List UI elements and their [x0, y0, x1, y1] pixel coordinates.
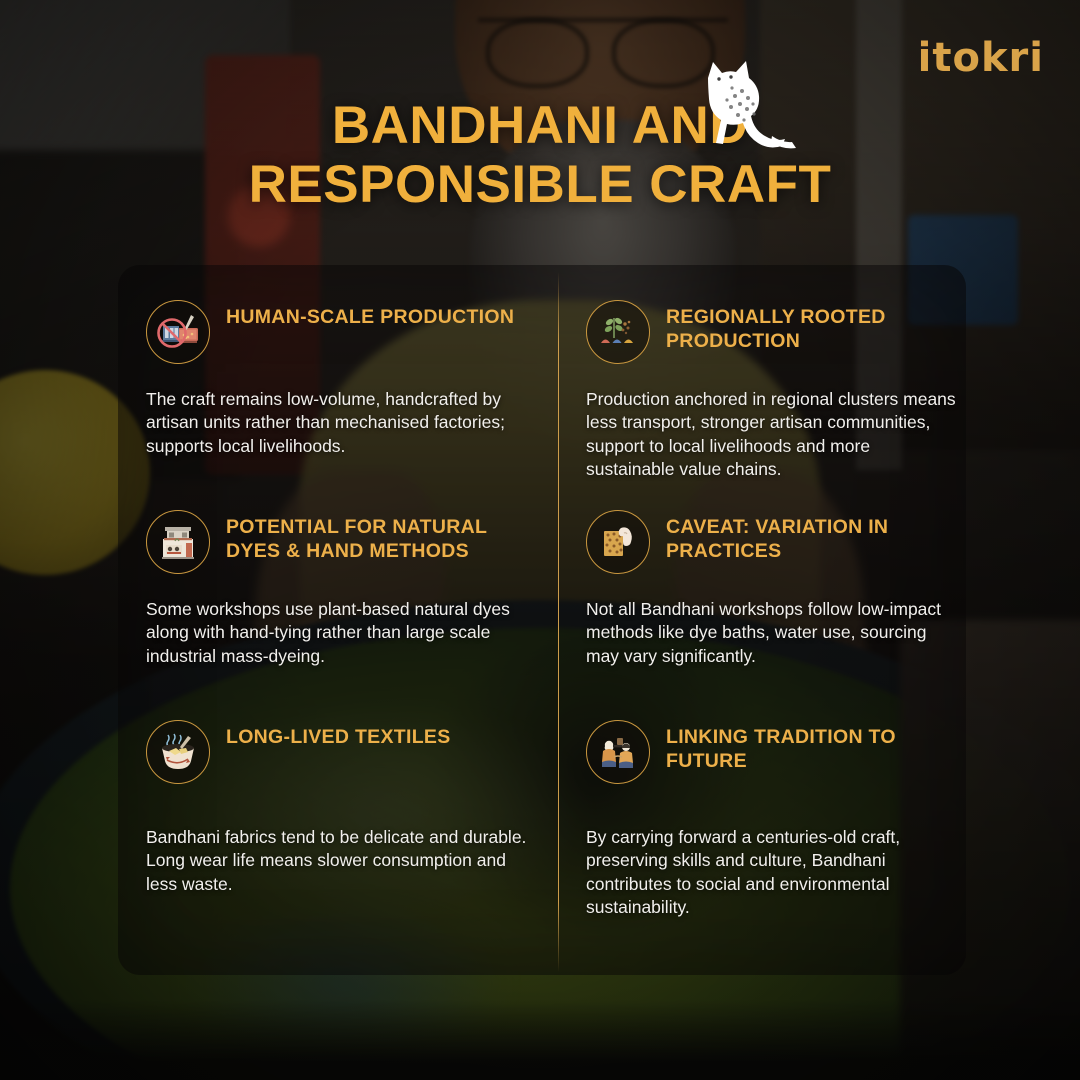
- card-human-scale-production: HUMAN-SCALE PRODUCTION The craft remains…: [118, 265, 558, 475]
- card-long-lived-textiles: LONG-LIVED TEXTILES Bandhani fabrics ten…: [118, 685, 558, 915]
- cat-icon: [686, 52, 806, 164]
- card-body: Some workshops use plant-based natural d…: [146, 598, 530, 668]
- seedling-dye-powders-icon: [586, 300, 650, 364]
- card-body: By carrying forward a centuries-old craf…: [586, 826, 956, 919]
- card-header: LINKING TRADITION TO FUTURE: [586, 720, 956, 784]
- workshop-building-icon: [146, 510, 210, 574]
- cards-grid: HUMAN-SCALE PRODUCTION The craft remains…: [118, 265, 966, 975]
- card-body: The craft remains low-volume, handcrafte…: [146, 388, 530, 458]
- card-header: LONG-LIVED TEXTILES: [146, 720, 530, 784]
- title-line-2: RESPONSIBLE CRAFT: [0, 155, 1080, 214]
- page-title: BANDHANI AND RESPONSIBLE CRAFT: [0, 96, 1080, 215]
- itokri-logo[interactable]: itokri: [918, 38, 1044, 78]
- card-regionally-rooted-production: REGIONALLY ROOTED PRODUCTION Production …: [558, 265, 966, 475]
- card-header: POTENTIAL FOR NATURAL DYES & HAND METHOD…: [146, 510, 530, 574]
- infographic-canvas: itokri BANDHANI AND RESPONSIBLE CRAFT: [0, 0, 1080, 1080]
- card-title: CAVEAT: VARIATION IN PRACTICES: [666, 510, 956, 564]
- two-artisans-icon: [586, 720, 650, 784]
- card-header: REGIONALLY ROOTED PRODUCTION: [586, 300, 956, 364]
- card-header: CAVEAT: VARIATION IN PRACTICES: [586, 510, 956, 574]
- hand-holding-fabric-swatch-icon: [586, 510, 650, 574]
- card-title: LONG-LIVED TEXTILES: [226, 720, 451, 750]
- card-caveat-variation-in-practices: CAVEAT: VARIATION IN PRACTICES Not all B…: [558, 475, 966, 685]
- steaming-dye-pot-icon: [146, 720, 210, 784]
- card-body: Production anchored in regional clusters…: [586, 388, 956, 481]
- no-factory-icon: [146, 300, 210, 364]
- card-title: POTENTIAL FOR NATURAL DYES & HAND METHOD…: [226, 510, 526, 564]
- card-title: REGIONALLY ROOTED PRODUCTION: [666, 300, 956, 354]
- card-header: HUMAN-SCALE PRODUCTION: [146, 300, 530, 364]
- card-natural-dyes-hand-methods: POTENTIAL FOR NATURAL DYES & HAND METHOD…: [118, 475, 558, 685]
- card-title: LINKING TRADITION TO FUTURE: [666, 720, 956, 774]
- card-body: Bandhani fabrics tend to be delicate and…: [146, 826, 530, 896]
- card-linking-tradition-to-future: LINKING TRADITION TO FUTURE By carrying …: [558, 685, 966, 915]
- card-body: Not all Bandhani workshops follow low-im…: [586, 598, 956, 668]
- card-title: HUMAN-SCALE PRODUCTION: [226, 300, 514, 330]
